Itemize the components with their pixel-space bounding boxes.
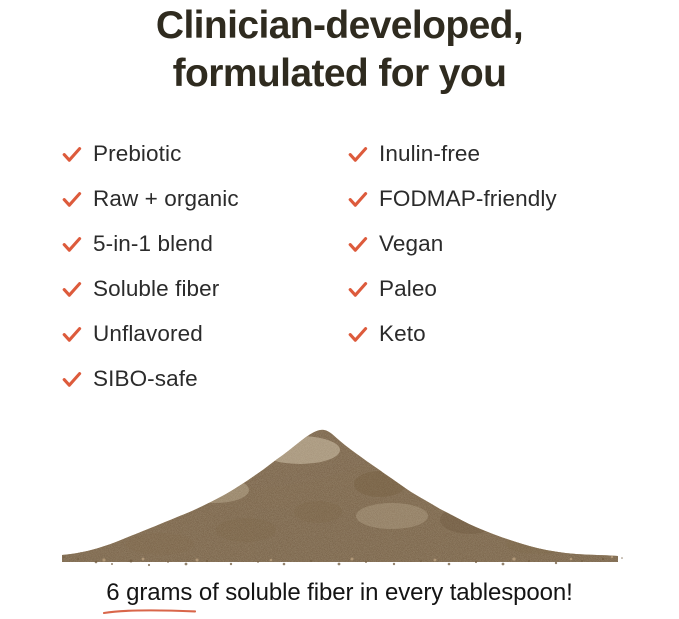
feature-item-sibo-safe: SIBO-safe	[62, 356, 352, 401]
fiber-powder-mound	[0, 412, 679, 567]
caption-highlight: 6 grams	[106, 579, 192, 606]
check-icon	[62, 190, 82, 210]
feature-column-left: Prebiotic Raw + organic 5-in-1 blend	[62, 131, 352, 401]
feature-label: SIBO-safe	[93, 367, 198, 391]
underline-stroke-icon	[103, 608, 196, 615]
feature-label: Paleo	[379, 277, 437, 301]
caption-highlight-wrap: 6 grams	[106, 578, 192, 608]
check-icon	[348, 280, 368, 300]
feature-item-paleo: Paleo	[348, 266, 648, 311]
headline-line-2: formulated for you	[0, 50, 679, 98]
feature-item-keto: Keto	[348, 311, 648, 356]
check-icon	[348, 190, 368, 210]
feature-label: FODMAP-friendly	[379, 187, 557, 211]
feature-item-raw-organic: Raw + organic	[62, 176, 352, 221]
check-icon	[348, 235, 368, 255]
feature-item-5-in-1-blend: 5-in-1 blend	[62, 221, 352, 266]
feature-label: Raw + organic	[93, 187, 239, 211]
check-icon	[62, 145, 82, 165]
feature-item-fodmap-friendly: FODMAP-friendly	[348, 176, 648, 221]
feature-label: Prebiotic	[93, 142, 181, 166]
feature-item-prebiotic: Prebiotic	[62, 131, 352, 176]
feature-label: Unflavored	[93, 322, 203, 346]
feature-label: 5-in-1 blend	[93, 232, 213, 256]
feature-label: Vegan	[379, 232, 443, 256]
check-icon	[62, 370, 82, 390]
page-title: Clinician-developed, formulated for you	[0, 2, 679, 98]
headline-line-1: Clinician-developed,	[0, 2, 679, 50]
feature-label: Keto	[379, 322, 426, 346]
promo-graphic: Clinician-developed, formulated for you …	[0, 0, 679, 619]
check-icon	[62, 235, 82, 255]
feature-column-right: Inulin-free FODMAP-friendly Vegan	[348, 131, 648, 356]
feature-item-inulin-free: Inulin-free	[348, 131, 648, 176]
check-icon	[348, 145, 368, 165]
feature-checklist: Prebiotic Raw + organic 5-in-1 blend	[0, 131, 679, 396]
feature-label: Inulin-free	[379, 142, 480, 166]
feature-item-unflavored: Unflavored	[62, 311, 352, 356]
caption: 6 grams of soluble fiber in every tables…	[0, 578, 679, 608]
feature-label: Soluble fiber	[93, 277, 219, 301]
check-icon	[62, 325, 82, 345]
check-icon	[62, 280, 82, 300]
check-icon	[348, 325, 368, 345]
feature-item-vegan: Vegan	[348, 221, 648, 266]
feature-item-soluble-fiber: Soluble fiber	[62, 266, 352, 311]
caption-rest: of soluble fiber in every tablespoon!	[192, 579, 572, 606]
